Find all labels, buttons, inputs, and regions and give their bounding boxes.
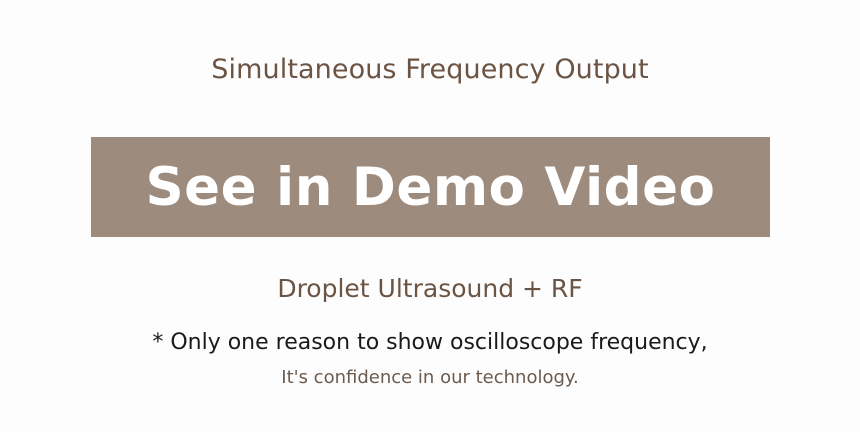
subcaption: Droplet Ultrasound + RF xyxy=(0,272,860,306)
page-title: Simultaneous Frequency Output xyxy=(0,52,860,88)
demo-video-banner[interactable]: See in Demo Video xyxy=(91,137,770,237)
demo-video-banner-label: See in Demo Video xyxy=(146,161,716,214)
footnote-secondary: It's confidence in our technology. xyxy=(0,365,860,391)
footnote-primary: * Only one reason to show oscilloscope f… xyxy=(0,328,860,358)
slide-canvas: Simultaneous Frequency Output See in Dem… xyxy=(0,0,860,432)
